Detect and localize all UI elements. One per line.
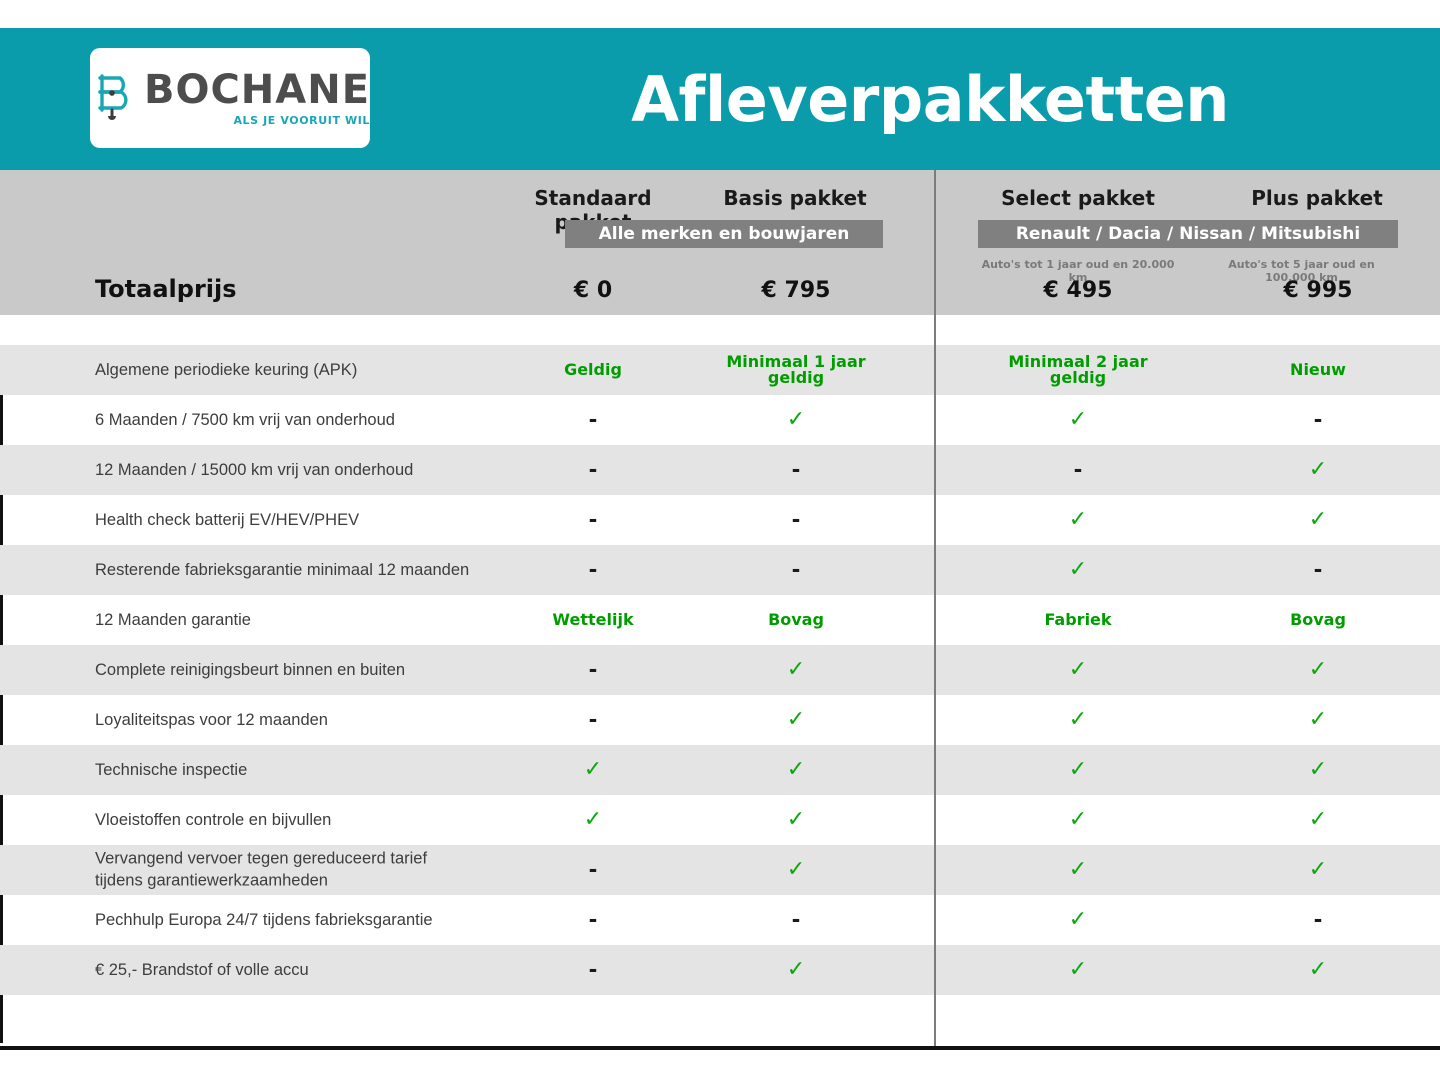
page-header: BOCHANE ALS JE VOORUIT WIL Afleverpakket… [0, 28, 1440, 170]
cell-select: ✓ [998, 409, 1158, 431]
cell-basis: ✓ [716, 859, 876, 881]
table-column-header: Standaard pakket Basis pakket Select pak… [0, 170, 1440, 315]
table-row: 12 Maanden garantieWettelijkBovagFabriek… [0, 595, 1440, 645]
row-label: Vervangend vervoer tegen gereduceerd tar… [95, 848, 427, 893]
row-label: Health check batterij EV/HEV/PHEV [95, 509, 359, 531]
cell-plus: Nieuw [1238, 362, 1398, 378]
cell-plus: ✓ [1238, 709, 1398, 731]
cell-basis: Minimaal 1 jaar geldig [716, 354, 876, 386]
cell-basis: ✓ [716, 709, 876, 731]
cell-select: Fabriek [998, 612, 1158, 628]
cell-plus: ✓ [1238, 459, 1398, 481]
packages-table: Standaard pakket Basis pakket Select pak… [0, 170, 1440, 1050]
brand-logo-tagline: ALS JE VOORUIT WIL [233, 115, 370, 126]
column-title-plus: Plus pakket [1222, 186, 1412, 210]
cell-plus: - [1238, 910, 1398, 931]
group-divider [934, 170, 936, 1050]
table-row: 6 Maanden / 7500 km vrij van onderhoud-✓… [0, 395, 1440, 445]
column-price-standaard: € 0 [513, 278, 673, 303]
cell-select: ✓ [998, 959, 1158, 981]
cell-standaard: - [513, 710, 673, 731]
cell-select: ✓ [998, 659, 1158, 681]
table-row: Vervangend vervoer tegen gereduceerd tar… [0, 845, 1440, 895]
group-band-right: Renault / Dacia / Nissan / Mitsubishi [978, 220, 1398, 248]
cell-basis: ✓ [716, 659, 876, 681]
cell-standaard: - [513, 960, 673, 981]
cell-standaard: - [513, 860, 673, 881]
brand-logo-card: BOCHANE ALS JE VOORUIT WIL [90, 48, 370, 148]
cell-select: - [998, 460, 1158, 481]
cell-select: ✓ [998, 559, 1158, 581]
cell-standaard: - [513, 660, 673, 681]
brand-logo-text: BOCHANE ALS JE VOORUIT WIL [144, 70, 370, 126]
row-label: 6 Maanden / 7500 km vrij van onderhoud [95, 409, 395, 431]
cell-plus: ✓ [1238, 859, 1398, 881]
row-label: Pechhulp Europa 24/7 tijdens fabrieksgar… [95, 909, 433, 931]
row-label: Vloeistoffen controle en bijvullen [95, 809, 331, 831]
row-label: Loyaliteitspas voor 12 maanden [95, 709, 328, 731]
row-label: Technische inspectie [95, 759, 247, 781]
table-row: Technische inspectie✓✓✓✓ [0, 745, 1440, 795]
table-row: Vloeistoffen controle en bijvullen✓✓✓✓ [0, 795, 1440, 845]
cell-standaard: - [513, 910, 673, 931]
cell-basis: ✓ [716, 959, 876, 981]
cell-basis: ✓ [716, 809, 876, 831]
row-label: Complete reinigingsbeurt binnen en buite… [95, 659, 405, 681]
row-label: Algemene periodieke keuring (APK) [95, 359, 357, 381]
table-row: Algemene periodieke keuring (APK)GeldigM… [0, 345, 1440, 395]
cell-standaard: ✓ [513, 809, 673, 831]
page-title: Afleverpakketten [420, 28, 1440, 170]
row-label: 12 Maanden / 15000 km vrij van onderhoud [95, 459, 413, 481]
column-title-select: Select pakket [978, 186, 1178, 210]
cell-select: ✓ [998, 909, 1158, 931]
cell-basis: Bovag [716, 612, 876, 628]
total-price-label: Totaalprijs [95, 275, 237, 303]
cell-select: ✓ [998, 859, 1158, 881]
column-price-plus: € 995 [1238, 278, 1398, 303]
brand-logo-wordmark: BOCHANE [144, 70, 370, 110]
cell-plus: ✓ [1238, 659, 1398, 681]
cell-standaard: - [513, 510, 673, 531]
table-row: Resterende fabrieksgarantie minimaal 12 … [0, 545, 1440, 595]
table-row: 12 Maanden / 15000 km vrij van onderhoud… [0, 445, 1440, 495]
cell-plus: ✓ [1238, 959, 1398, 981]
cell-basis: - [716, 560, 876, 581]
cell-plus: - [1238, 560, 1398, 581]
column-title-basis: Basis pakket [710, 186, 880, 210]
table-row: Pechhulp Europa 24/7 tijdens fabrieksgar… [0, 895, 1440, 945]
cell-select: Minimaal 2 jaar geldig [998, 354, 1158, 386]
bochane-b-mark-icon [90, 70, 136, 126]
table-row: Complete reinigingsbeurt binnen en buite… [0, 645, 1440, 695]
cell-basis: ✓ [716, 759, 876, 781]
cell-standaard: - [513, 460, 673, 481]
cell-plus: Bovag [1238, 612, 1398, 628]
cell-select: ✓ [998, 509, 1158, 531]
header-spacer-row [0, 315, 1440, 345]
cell-standaard: - [513, 560, 673, 581]
feature-rows: Algemene periodieke keuring (APK)GeldigM… [0, 345, 1440, 995]
cell-standaard: Wettelijk [513, 612, 673, 628]
table-row: € 25,- Brandstof of volle accu-✓✓✓ [0, 945, 1440, 995]
cell-plus: ✓ [1238, 759, 1398, 781]
row-label: Resterende fabrieksgarantie minimaal 12 … [95, 559, 469, 581]
cell-standaard: ✓ [513, 759, 673, 781]
row-label: 12 Maanden garantie [95, 609, 251, 631]
brand-logo: BOCHANE ALS JE VOORUIT WIL [90, 70, 370, 126]
cell-basis: - [716, 910, 876, 931]
row-label: € 25,- Brandstof of volle accu [95, 959, 309, 981]
cell-select: ✓ [998, 709, 1158, 731]
column-price-select: € 495 [998, 278, 1158, 303]
table-footer-row [0, 995, 1440, 1043]
cell-standaard: Geldig [513, 362, 673, 378]
cell-plus: ✓ [1238, 809, 1398, 831]
cell-select: ✓ [998, 759, 1158, 781]
table-row: Loyaliteitspas voor 12 maanden-✓✓✓ [0, 695, 1440, 745]
cell-select: ✓ [998, 809, 1158, 831]
cell-plus: - [1238, 410, 1398, 431]
cell-standaard: - [513, 410, 673, 431]
cell-basis: ✓ [716, 409, 876, 431]
cell-basis: - [716, 460, 876, 481]
column-price-basis: € 795 [716, 278, 876, 303]
bottom-rule [0, 1046, 1440, 1050]
group-band-left: Alle merken en bouwjaren [565, 220, 883, 248]
cell-basis: - [716, 510, 876, 531]
table-row: Health check batterij EV/HEV/PHEV--✓✓ [0, 495, 1440, 545]
cell-plus: ✓ [1238, 509, 1398, 531]
